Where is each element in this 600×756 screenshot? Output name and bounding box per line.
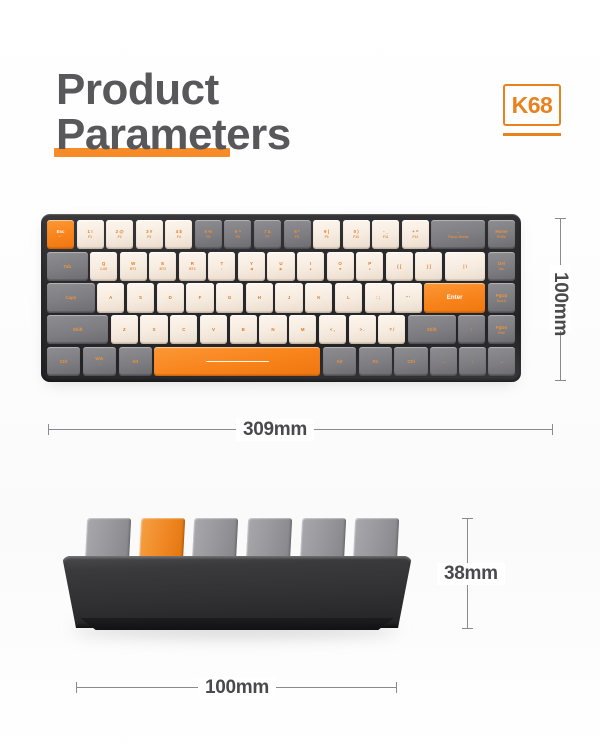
key-alt[interactable]: Alt bbox=[119, 347, 152, 376]
key-shift[interactable]: Shift bbox=[408, 315, 456, 344]
key-v[interactable]: V bbox=[200, 315, 227, 344]
key-primary-legend: ← bbox=[441, 359, 445, 365]
key-primary-legend: ? / bbox=[389, 327, 394, 333]
key-primary-legend: V bbox=[212, 327, 215, 333]
key-key[interactable]: ← bbox=[430, 347, 457, 376]
side-view-chassis bbox=[62, 556, 412, 628]
dimension-tick-right-309mm bbox=[552, 424, 553, 435]
key-key[interactable]: ↓ bbox=[459, 347, 486, 376]
keyboard-row: ShiftZXCVBNM< ,> .? /Shift↑PgDnEnd bbox=[47, 315, 515, 344]
dimension-tick-left-309mm bbox=[48, 424, 49, 435]
key-key[interactable]: ? / bbox=[378, 315, 405, 344]
key-secondary-legend: 2.4G bbox=[100, 267, 107, 271]
key-shift[interactable]: Shift bbox=[47, 315, 108, 344]
key-i[interactable]: I▲ bbox=[297, 252, 324, 281]
key-primary-legend: > . bbox=[360, 327, 365, 333]
key-primary-legend: Ctrl bbox=[60, 359, 68, 365]
key-secondary-legend: F5 bbox=[206, 235, 210, 239]
key-primary-legend: 0 ) bbox=[354, 229, 359, 235]
key-primary-legend: Shift bbox=[427, 327, 437, 333]
key-primary-legend: 4 $ bbox=[176, 229, 182, 235]
key-l[interactable]: L bbox=[335, 283, 362, 312]
key-secondary-legend: ScrLk bbox=[497, 299, 506, 303]
key-k[interactable]: K bbox=[305, 283, 332, 312]
key-t[interactable]: T♪ bbox=[208, 252, 235, 281]
key-primary-legend: ↑ bbox=[471, 327, 473, 333]
key-secondary-legend: F9 bbox=[325, 235, 329, 239]
key-primary-legend: M bbox=[301, 327, 305, 333]
key-o[interactable]: O■ bbox=[327, 252, 354, 281]
key-primary-legend: N bbox=[271, 327, 274, 333]
key-primary-legend: : ; bbox=[376, 295, 380, 301]
key-del[interactable]: DelIns bbox=[488, 252, 515, 281]
key-key[interactable]: < , bbox=[319, 315, 346, 344]
key-primary-legend: T bbox=[221, 261, 224, 267]
key-secondary-legend: F7 bbox=[265, 235, 269, 239]
key-m[interactable]: M bbox=[289, 315, 316, 344]
keyboard-side-view bbox=[62, 518, 412, 643]
key-primary-legend: S bbox=[139, 295, 142, 301]
key-primary-legend: Alt bbox=[337, 359, 343, 365]
key-key[interactable]: ↑ bbox=[458, 315, 485, 344]
key-pgup[interactable]: PgUpScrLk bbox=[488, 283, 515, 312]
dimension-label-height-38mm: 38mm bbox=[437, 563, 505, 585]
key-secondary-legend: F3 bbox=[147, 235, 151, 239]
key-primary-legend: 9 ( bbox=[324, 229, 329, 235]
key-primary-legend: Del bbox=[498, 261, 505, 267]
key-secondary-legend: End bbox=[498, 331, 504, 335]
key-secondary-legend: F11 bbox=[383, 235, 389, 239]
key-secondary-legend: Pause Break bbox=[448, 235, 468, 239]
key-4[interactable]: 4 $F4 bbox=[165, 220, 192, 249]
key-esc[interactable]: Esc~ ` bbox=[47, 220, 74, 249]
keyboard-row: TabQ2.4GWBT1EBT2RBT3T♪Y◀U▶I▲O■P●{ [} ]| … bbox=[47, 252, 515, 281]
key-primary-legend: G bbox=[228, 295, 231, 301]
key-tab[interactable]: Tab bbox=[47, 252, 88, 281]
model-badge: K68 bbox=[503, 84, 561, 126]
key-7[interactable]: 7 &F7 bbox=[254, 220, 281, 249]
key-primary-legend: PgDn bbox=[496, 325, 507, 331]
key-primary-legend: K bbox=[317, 295, 320, 301]
key-primary-legend: Enter bbox=[447, 294, 463, 302]
key-key[interactable]: ←Pause Break bbox=[431, 220, 485, 249]
key-y[interactable]: Y◀ bbox=[238, 252, 265, 281]
keyboard-row: CtrlWin⌂AltAltFnCtrl←↓→ bbox=[47, 347, 515, 376]
key-primary-legend: " ' bbox=[406, 295, 410, 301]
key-w[interactable]: WBT1 bbox=[120, 252, 147, 281]
key-primary-legend: Esc bbox=[57, 229, 65, 235]
key-secondary-legend: ⌂ bbox=[98, 362, 100, 366]
key-p[interactable]: P● bbox=[356, 252, 383, 281]
key-primary-legend: P bbox=[368, 261, 371, 267]
key-1[interactable]: 1 !F1 bbox=[77, 220, 104, 249]
side-view-base bbox=[80, 618, 394, 630]
keyboard-row: CapsASDFGHJKL: ;" 'EnterPgUpScrLk bbox=[47, 283, 515, 312]
key-win[interactable]: Win⌂ bbox=[83, 347, 116, 376]
key-secondary-legend: ♪ bbox=[221, 267, 223, 271]
key-secondary-legend: PrtSc bbox=[497, 235, 506, 239]
key-primary-legend: 7 & bbox=[264, 229, 271, 235]
key-fn[interactable]: Fn bbox=[359, 347, 392, 376]
key-secondary-legend: ~ ` bbox=[59, 235, 63, 239]
key-primary-legend: C bbox=[182, 327, 185, 333]
key-q[interactable]: Q2.4G bbox=[90, 252, 117, 281]
key-primary-legend: Z bbox=[123, 327, 126, 333]
key-primary-legend: B bbox=[242, 327, 245, 333]
title-line-primary: Product bbox=[56, 68, 291, 111]
key-primary-legend: Home bbox=[495, 229, 507, 235]
key-ctrl[interactable]: Ctrl bbox=[394, 347, 427, 376]
key-primary-legend: → bbox=[500, 359, 504, 365]
key-home[interactable]: HomePrtSc bbox=[488, 220, 515, 249]
key-primary-legend: 1 ! bbox=[88, 229, 93, 235]
key-8[interactable]: 8 *F8 bbox=[284, 220, 311, 249]
key-primary-legend: Shift bbox=[73, 327, 83, 333]
key-key[interactable]: → bbox=[488, 347, 515, 376]
key-j[interactable]: J bbox=[275, 283, 302, 312]
key-6[interactable]: 6 ^F6 bbox=[224, 220, 251, 249]
key-secondary-legend: BT3 bbox=[189, 267, 195, 271]
title-line-secondary: Parameters bbox=[56, 113, 291, 156]
product-parameters-page: Product Parameters K68 Esc~ `1 !F12 @F23… bbox=[0, 0, 600, 756]
dimension-tick-bottom-38mm bbox=[462, 628, 473, 629]
key-primary-legend: PgUp bbox=[496, 293, 507, 299]
key-primary-legend: 3 # bbox=[146, 229, 152, 235]
key-u[interactable]: U▶ bbox=[267, 252, 294, 281]
key-5[interactable]: 5 %F5 bbox=[195, 220, 222, 249]
key-secondary-legend: BT1 bbox=[130, 267, 136, 271]
key-3[interactable]: 3 #F3 bbox=[136, 220, 163, 249]
key-f[interactable]: F bbox=[186, 283, 213, 312]
key-primary-legend: L bbox=[347, 295, 350, 301]
keyboard-chassis: Esc~ `1 !F12 @F23 #F34 $F45 %F56 ^F67 &F… bbox=[41, 214, 521, 382]
spacebar-marker bbox=[206, 361, 269, 363]
key-enter[interactable]: Enter bbox=[424, 283, 485, 312]
key-primary-legend: A bbox=[109, 295, 112, 301]
key-primary-legend: Win bbox=[95, 356, 103, 362]
dimension-label-width-309mm: 309mm bbox=[236, 419, 314, 441]
key-key[interactable]: - _F11 bbox=[372, 220, 399, 249]
key-s[interactable]: S bbox=[127, 283, 154, 312]
key-n[interactable]: N bbox=[259, 315, 286, 344]
dimension-tick-right-100mm bbox=[396, 682, 397, 693]
key-key[interactable]: + =F12 bbox=[402, 220, 429, 249]
key-primary-legend: H bbox=[258, 295, 261, 301]
dimension-tick-bottom-100mm bbox=[555, 380, 566, 381]
model-badge-rule bbox=[503, 133, 561, 136]
key-2[interactable]: 2 @F2 bbox=[106, 220, 133, 249]
key-e[interactable]: EBT2 bbox=[149, 252, 176, 281]
key-secondary-legend: ▲ bbox=[309, 267, 312, 271]
key-primary-legend: { [ bbox=[397, 264, 401, 270]
key-primary-legend: 6 ^ bbox=[235, 229, 241, 235]
key-primary-legend: 2 @ bbox=[116, 229, 124, 235]
key-secondary-legend: F8 bbox=[295, 235, 299, 239]
key-primary-legend: 5 % bbox=[205, 229, 213, 235]
key-key[interactable]: " ' bbox=[394, 283, 421, 312]
key-b[interactable]: B bbox=[230, 315, 257, 344]
key-g[interactable]: G bbox=[216, 283, 243, 312]
key-primary-legend: U bbox=[279, 261, 282, 267]
key-secondary-legend: F6 bbox=[236, 235, 240, 239]
key-ctrl[interactable]: Ctrl bbox=[47, 347, 80, 376]
key-secondary-legend: F2 bbox=[118, 235, 122, 239]
dimension-tick-left-100mm bbox=[76, 682, 77, 693]
dimension-tick-top-100mm bbox=[555, 218, 566, 219]
key-primary-legend: R bbox=[191, 261, 194, 267]
key-caps[interactable]: Caps bbox=[47, 283, 95, 312]
key-secondary-legend: F4 bbox=[177, 235, 181, 239]
key-primary-legend: D bbox=[169, 295, 172, 301]
keyboard-top-view: Esc~ `1 !F12 @F23 #F34 $F45 %F56 ^F67 &F… bbox=[41, 214, 521, 382]
key-primary-legend: Fn bbox=[373, 359, 378, 365]
key-secondary-legend: ▶ bbox=[280, 267, 283, 271]
key-r[interactable]: RBT3 bbox=[179, 252, 206, 281]
key-key[interactable]: | \ bbox=[445, 252, 486, 281]
key-secondary-legend: ■ bbox=[339, 267, 341, 271]
key-primary-legend: + = bbox=[412, 229, 418, 235]
key-9[interactable]: 9 (F9 bbox=[313, 220, 340, 249]
key-primary-legend: W bbox=[131, 261, 135, 267]
key-primary-legend: 8 * bbox=[294, 229, 299, 235]
key-d[interactable]: D bbox=[157, 283, 184, 312]
key-primary-legend: X bbox=[153, 327, 156, 333]
key-0[interactable]: 0 )F10 bbox=[343, 220, 370, 249]
key-primary-legend: } ] bbox=[427, 264, 431, 270]
keyboard-row: Esc~ `1 !F12 @F23 #F34 $F45 %F56 ^F67 &F… bbox=[47, 220, 515, 249]
key-primary-legend: I bbox=[310, 261, 311, 267]
keyboard-key-rows: Esc~ `1 !F12 @F23 #F34 $F45 %F56 ^F67 &F… bbox=[47, 220, 515, 376]
key-c[interactable]: C bbox=[170, 315, 197, 344]
key-secondary-legend: ◀ bbox=[250, 267, 253, 271]
key-pgdn[interactable]: PgDnEnd bbox=[488, 315, 515, 344]
key-secondary-legend: F12 bbox=[412, 235, 418, 239]
key-primary-legend: Q bbox=[102, 261, 105, 267]
key-key[interactable]: : ; bbox=[365, 283, 392, 312]
key-secondary-legend: ● bbox=[369, 267, 371, 271]
key-primary-legend: Caps bbox=[65, 295, 76, 301]
key-primary-legend: | \ bbox=[463, 264, 467, 270]
model-badge-label: K68 bbox=[512, 94, 553, 117]
key-secondary-legend: F1 bbox=[88, 235, 92, 239]
key-secondary-legend: F10 bbox=[353, 235, 359, 239]
key-key[interactable]: { [ bbox=[386, 252, 413, 281]
key-primary-legend: F bbox=[199, 295, 202, 301]
key-primary-legend: Ctrl bbox=[407, 359, 415, 365]
key-spacebar[interactable] bbox=[154, 347, 320, 376]
key-key[interactable]: > . bbox=[349, 315, 376, 344]
key-primary-legend: E bbox=[161, 261, 164, 267]
dimension-tick-top-38mm bbox=[462, 518, 473, 519]
key-primary-legend: O bbox=[338, 261, 341, 267]
dimension-label-height-100mm: 100mm bbox=[549, 265, 571, 331]
key-secondary-legend: BT2 bbox=[160, 267, 166, 271]
key-z[interactable]: Z bbox=[111, 315, 138, 344]
key-primary-legend: Y bbox=[250, 261, 253, 267]
key-primary-legend: J bbox=[288, 295, 290, 301]
page-header: Product Parameters K68 bbox=[0, 0, 600, 200]
key-h[interactable]: H bbox=[246, 283, 273, 312]
key-primary-legend: < , bbox=[330, 327, 335, 333]
key-primary-legend: Tab bbox=[64, 264, 71, 270]
key-alt[interactable]: Alt bbox=[323, 347, 356, 376]
key-key[interactable]: } ] bbox=[415, 252, 442, 281]
key-primary-legend: - _ bbox=[383, 229, 388, 235]
page-title: Product Parameters bbox=[56, 68, 291, 156]
dimension-label-depth-100mm: 100mm bbox=[198, 677, 276, 699]
key-primary-legend: ↓ bbox=[472, 359, 474, 365]
key-primary-legend: ← bbox=[456, 229, 460, 235]
key-primary-legend: Alt bbox=[132, 359, 138, 365]
key-a[interactable]: A bbox=[97, 283, 124, 312]
key-secondary-legend: Ins bbox=[499, 267, 504, 271]
key-x[interactable]: X bbox=[140, 315, 167, 344]
